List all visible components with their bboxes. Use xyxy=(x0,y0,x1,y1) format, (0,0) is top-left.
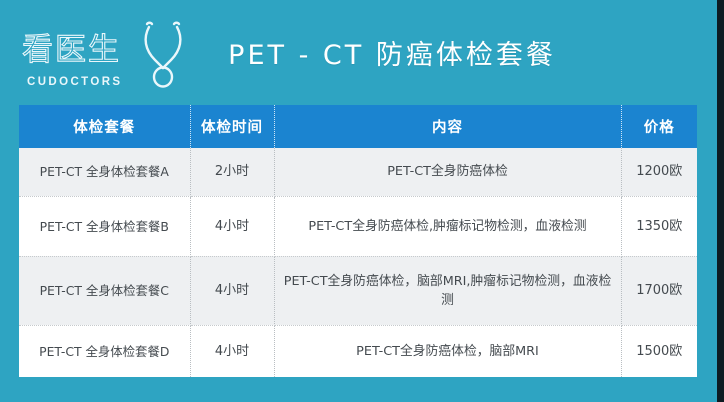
page-header: 看医生 CUDOCTORS PET - CT 防癌体检套餐 xyxy=(0,0,724,105)
column-header-price: 价格 xyxy=(621,105,697,148)
column-header-duration: 体检时间 xyxy=(190,105,274,148)
table-row: PET-CT 全身体检套餐D 4小时 PET-CT全身防癌体检，脑部MRI 15… xyxy=(19,325,697,377)
cell-content: PET-CT全身防癌体检，脑部MRI,肿瘤标记物检测，血液检测 xyxy=(274,256,621,325)
package-table: 体检套餐 体检时间 内容 价格 PET-CT 全身体检套餐A 2小时 PET-C… xyxy=(19,105,697,377)
column-header-content: 内容 xyxy=(274,105,621,148)
cell-duration: 4小时 xyxy=(190,325,274,377)
cell-price: 1700欧 xyxy=(621,256,697,325)
cell-content: PET-CT全身防癌体检 xyxy=(274,148,621,196)
cell-package: PET-CT 全身体检套餐B xyxy=(19,196,190,256)
cell-duration: 4小时 xyxy=(190,256,274,325)
cell-price: 1350欧 xyxy=(621,196,697,256)
cell-price: 1200欧 xyxy=(621,148,697,196)
cell-duration: 4小时 xyxy=(190,196,274,256)
package-table-container: 体检套餐 体检时间 内容 价格 PET-CT 全身体检套餐A 2小时 PET-C… xyxy=(19,105,697,377)
table-row: PET-CT 全身体检套餐C 4小时 PET-CT全身防癌体检，脑部MRI,肿瘤… xyxy=(19,256,697,325)
cell-package: PET-CT 全身体检套餐C xyxy=(19,256,190,325)
table-row: PET-CT 全身体检套餐A 2小时 PET-CT全身防癌体检 1200欧 xyxy=(19,148,697,196)
table-header-row: 体检套餐 体检时间 内容 价格 xyxy=(19,105,697,148)
column-header-package: 体检套餐 xyxy=(19,105,190,148)
cell-content: PET-CT全身防癌体检,肿瘤标记物检测，血液检测 xyxy=(274,196,621,256)
table-row: PET-CT 全身体检套餐B 4小时 PET-CT全身防癌体检,肿瘤标记物检测，… xyxy=(19,196,697,256)
cell-package: PET-CT 全身体检套餐A xyxy=(19,148,190,196)
right-edge-strip xyxy=(717,0,724,402)
page-title: PET - CT 防癌体检套餐 xyxy=(0,0,724,105)
cell-content: PET-CT全身防癌体检，脑部MRI xyxy=(274,325,621,377)
cell-price: 1500欧 xyxy=(621,325,697,377)
cell-package: PET-CT 全身体检套餐D xyxy=(19,325,190,377)
cell-duration: 2小时 xyxy=(190,148,274,196)
